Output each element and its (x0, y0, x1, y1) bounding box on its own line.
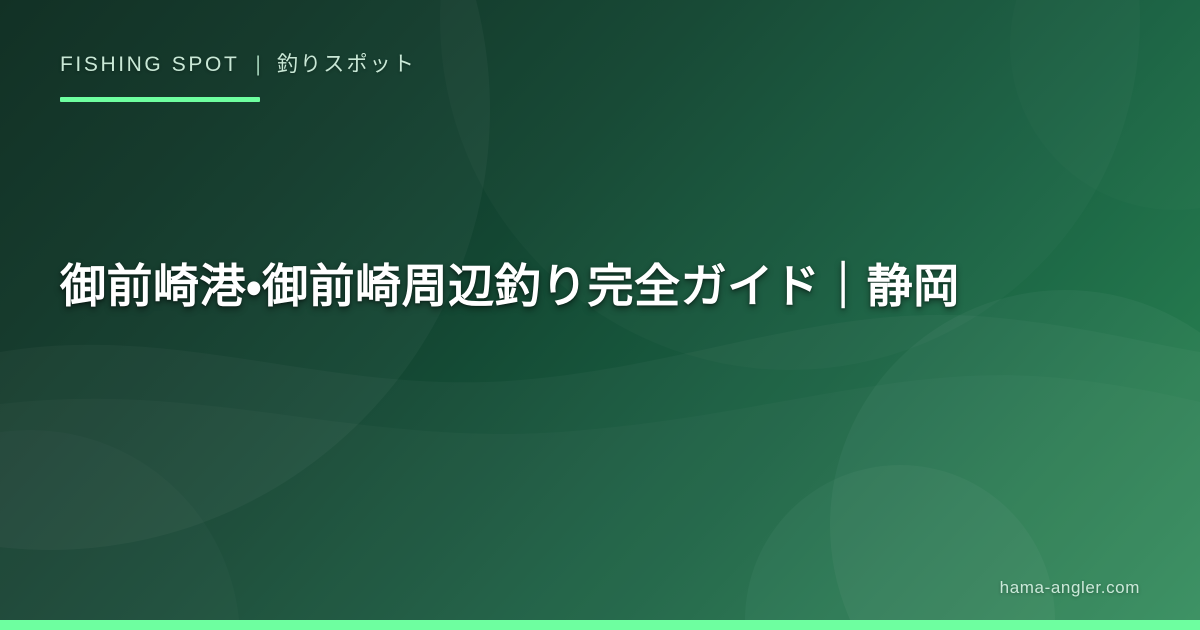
site-domain: hama-angler.com (1000, 579, 1140, 596)
eyebrow: FISHING SPOT | 釣りスポット (60, 54, 416, 75)
eyebrow-english-label: FISHING SPOT (60, 54, 239, 75)
banner-content: FISHING SPOT | 釣りスポット 御前崎港・御前崎周辺釣り完全ガイド｜… (0, 0, 1200, 630)
eyebrow-underline-rule (60, 97, 260, 102)
og-banner: FISHING SPOT | 釣りスポット 御前崎港・御前崎周辺釣り完全ガイド｜… (0, 0, 1200, 630)
eyebrow-separator: | (253, 54, 262, 75)
eyebrow-block: FISHING SPOT | 釣りスポット (60, 54, 416, 102)
page-title: 御前崎港・御前崎周辺釣り完全ガイド｜静岡 (60, 256, 1150, 317)
eyebrow-japanese-label: 釣りスポット (277, 54, 416, 75)
bottom-accent-bar (0, 620, 1200, 630)
